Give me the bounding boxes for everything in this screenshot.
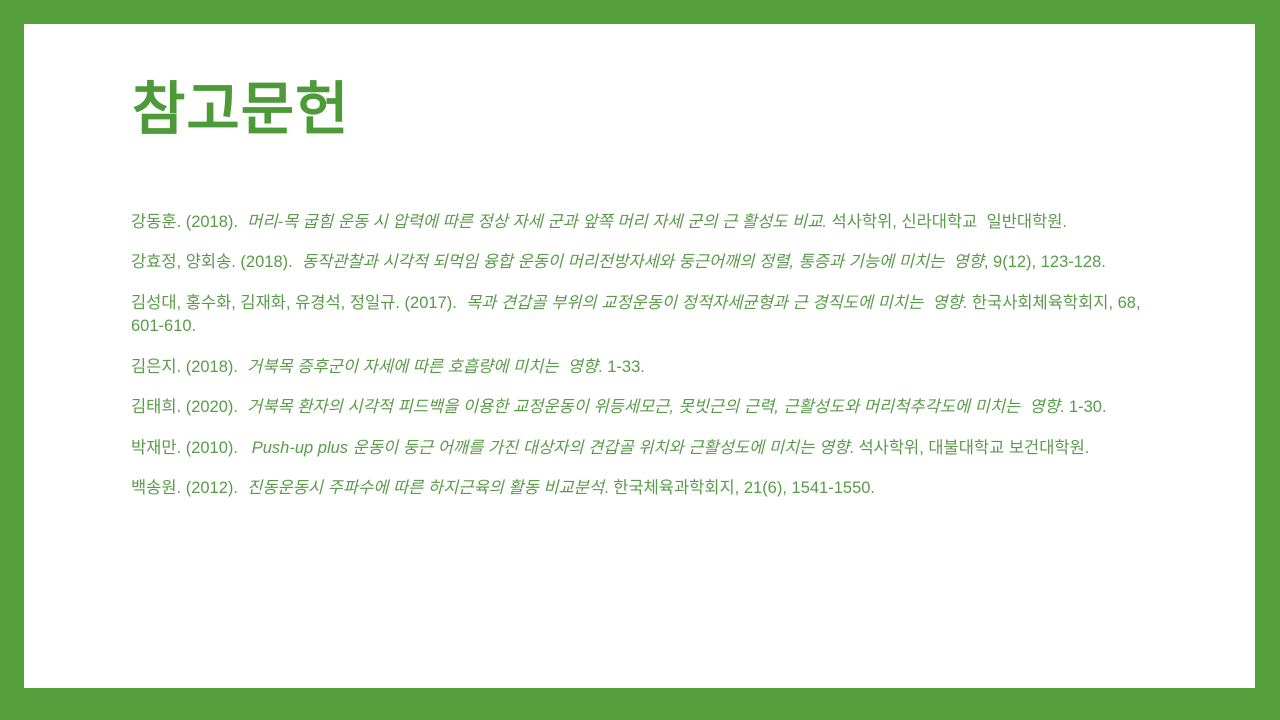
slide-content-area: 참고문헌 강동훈. (2018). 머리-목 굽힘 운동 시 압력에 따른 정상…: [24, 24, 1255, 688]
page-title: 참고문헌: [132, 80, 349, 141]
reference-title-text: 거북목 환자의 시각적 피드백을 이용한 교정운동이 위등세모근, 못빗근의 근…: [247, 398, 1060, 416]
reference-entry: 강효정, 양회송. (2018). 동작관찰과 시각적 되먹임 융합 운동이 머…: [131, 251, 1161, 274]
reference-meta-text: . 1-30.: [1060, 398, 1107, 416]
reference-title-text: Push-up plus 운동이 둥근 어깨를 가진 대상자의 견갑골 위치와 …: [252, 439, 850, 457]
reference-title-text: 동작관찰과 시각적 되먹임 융합 운동이 머리전방자세와 둥근어깨의 정렬, 통…: [302, 253, 984, 271]
reference-meta-text: 백송원. (2012).: [131, 479, 247, 497]
reference-entry: 김은지. (2018). 거북목 증후군이 자세에 따른 호흡량에 미치는 영향…: [131, 356, 1161, 379]
reference-title-text: 머리-목 굽힘 운동 시 압력에 따른 정상 자세 군과 앞쪽 머리 자세 군의…: [247, 213, 827, 231]
reference-meta-text: . 1-33.: [598, 358, 645, 376]
slide-frame: 참고문헌 강동훈. (2018). 머리-목 굽힘 운동 시 압력에 따른 정상…: [0, 0, 1280, 720]
reference-meta-text: 김태희. (2020).: [131, 398, 247, 416]
reference-title-text: 거북목 증후군이 자세에 따른 호흡량에 미치는 영향: [247, 358, 598, 376]
reference-meta-text: , 9(12), 123-128.: [984, 253, 1106, 271]
reference-meta-text: 강동훈. (2018).: [131, 213, 247, 231]
reference-entry: 백송원. (2012). 진동운동시 주파수에 따른 하지근육의 활동 비교분석…: [131, 477, 1161, 500]
reference-meta-text: . 석사학위, 대불대학교 보건대학원.: [849, 439, 1089, 457]
reference-meta-text: 김성대, 홍수화, 김재화, 유경석, 정일규. (2017).: [131, 294, 466, 312]
reference-title-text: 진동운동시 주파수에 따른 하지근육의 활동 비교분석: [247, 479, 604, 497]
reference-meta-text: 김은지. (2018).: [131, 358, 247, 376]
reference-meta-text: . 한국체육과학회지, 21(6), 1541-1550.: [604, 479, 875, 497]
reference-meta-text: 석사학위, 신라대학교 일반대학원.: [827, 213, 1067, 231]
reference-entry: 김성대, 홍수화, 김재화, 유경석, 정일규. (2017). 목과 견갑골 …: [131, 292, 1161, 339]
reference-entry: 강동훈. (2018). 머리-목 굽힘 운동 시 압력에 따른 정상 자세 군…: [131, 211, 1161, 234]
reference-meta-text: 박재만. (2010).: [131, 439, 252, 457]
reference-meta-text: 강효정, 양회송. (2018).: [131, 253, 302, 271]
reference-list: 강동훈. (2018). 머리-목 굽힘 운동 시 압력에 따른 정상 자세 군…: [131, 211, 1161, 500]
reference-entry: 김태희. (2020). 거북목 환자의 시각적 피드백을 이용한 교정운동이 …: [131, 396, 1161, 419]
reference-title-text: 목과 견갑골 부위의 교정운동이 정적자세균형과 근 경직도에 미치는 영향: [466, 294, 963, 312]
reference-entry: 박재만. (2010). Push-up plus 운동이 둥근 어깨를 가진 …: [131, 437, 1161, 460]
